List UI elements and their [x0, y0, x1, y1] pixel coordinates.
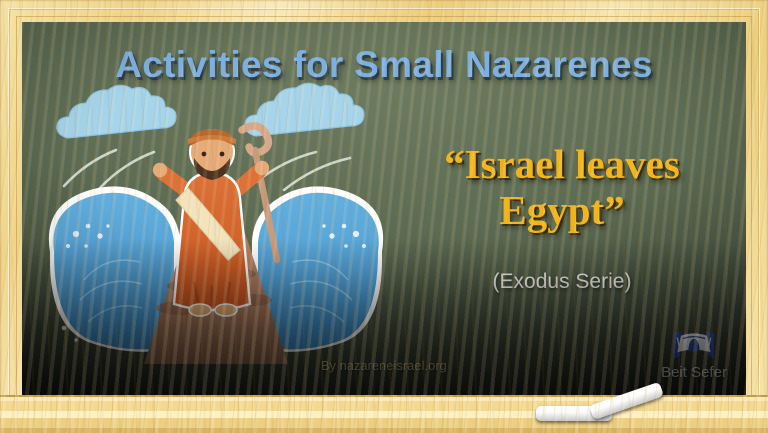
chalkboard: Activities for Small Nazarenes “Israel l…	[22, 22, 746, 395]
logo-label: Beit Sefer	[650, 364, 738, 381]
illustration-moses-parting-sea	[42, 84, 390, 364]
cloud-left	[57, 85, 176, 138]
beit-sefer-logo: Beit Sefer	[650, 327, 738, 381]
chalk-ledge	[0, 395, 768, 433]
series-label: (Exodus Serie)	[394, 270, 730, 294]
verse-line-2: Egypt”	[394, 188, 730, 234]
verse-block: “Israel leaves Egypt” (Exodus Serie)	[394, 142, 730, 294]
verse-line-1: “Israel leaves	[394, 142, 730, 188]
open-book-icon	[650, 327, 738, 363]
credit-text: By nazareneisrael.org	[22, 359, 746, 373]
page-title: Activities for Small Nazarenes	[22, 44, 746, 86]
wooden-frame: Activities for Small Nazarenes “Israel l…	[0, 0, 768, 433]
